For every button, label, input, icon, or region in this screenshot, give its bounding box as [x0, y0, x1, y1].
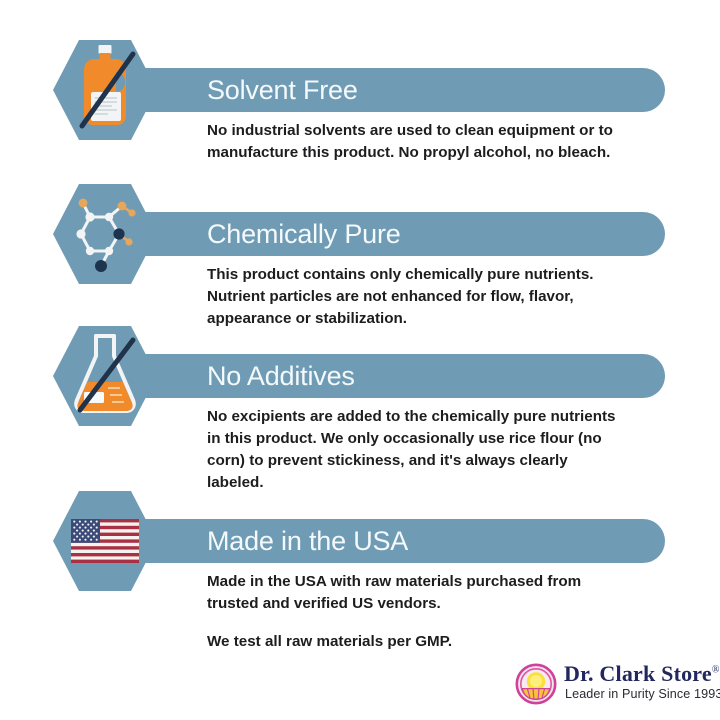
dr-clark-store-sunrise-emblem	[514, 662, 558, 706]
feature-block-chemically-pure: Chemically Pure	[0, 206, 720, 262]
feature-paragraph: No industrial solvents are used to clean…	[207, 120, 627, 164]
icon-hexagon-badge	[53, 184, 157, 284]
registered-trademark-symbol: ®	[712, 665, 720, 676]
feature-title: Chemically Pure	[207, 212, 667, 256]
usa-flag-icon	[53, 491, 157, 591]
icon-hexagon-badge	[53, 326, 157, 426]
feature-paragraph: Made in the USA with raw materials purch…	[207, 571, 627, 615]
feature-title: Solvent Free	[207, 68, 667, 112]
feature-banner: No Additives	[0, 348, 720, 404]
infographic-page: Solvent Free	[0, 0, 720, 720]
feature-body: No industrial solvents are used to clean…	[207, 120, 627, 164]
feature-title: No Additives	[207, 354, 667, 398]
feature-paragraph: We test all raw materials per GMP.	[207, 631, 627, 653]
feature-title: Made in the USA	[207, 519, 667, 563]
molecule-structure-icon	[53, 184, 157, 284]
crossed-out-solvent-bottle-icon	[53, 40, 157, 140]
icon-hexagon-badge	[53, 491, 157, 591]
feature-banner: Chemically Pure	[0, 206, 720, 262]
feature-block-solvent-free: Solvent Free	[0, 62, 720, 118]
feature-paragraph: This product contains only chemically pu…	[207, 264, 627, 330]
brand-logo[interactable]: Dr. Clark Store® Leader in Purity Since …	[514, 660, 710, 710]
feature-body: Made in the USA with raw materials purch…	[207, 571, 627, 653]
feature-banner: Solvent Free	[0, 62, 720, 118]
brand-name: Dr. Clark Store	[564, 661, 712, 686]
brand-wordmark: Dr. Clark Store®	[564, 661, 720, 687]
feature-block-made-in-the-usa: Made in the USA	[0, 513, 720, 569]
feature-body: No excipients are added to the chemicall…	[207, 406, 627, 494]
feature-block-no-additives: No Additives	[0, 348, 720, 404]
feature-banner: Made in the USA	[0, 513, 720, 569]
brand-tagline: Leader in Purity Since 1993	[565, 687, 720, 701]
crossed-out-erlenmeyer-flask-icon	[53, 326, 157, 426]
feature-body: This product contains only chemically pu…	[207, 264, 627, 330]
icon-hexagon-badge	[53, 40, 157, 140]
feature-paragraph: No excipients are added to the chemicall…	[207, 406, 627, 494]
